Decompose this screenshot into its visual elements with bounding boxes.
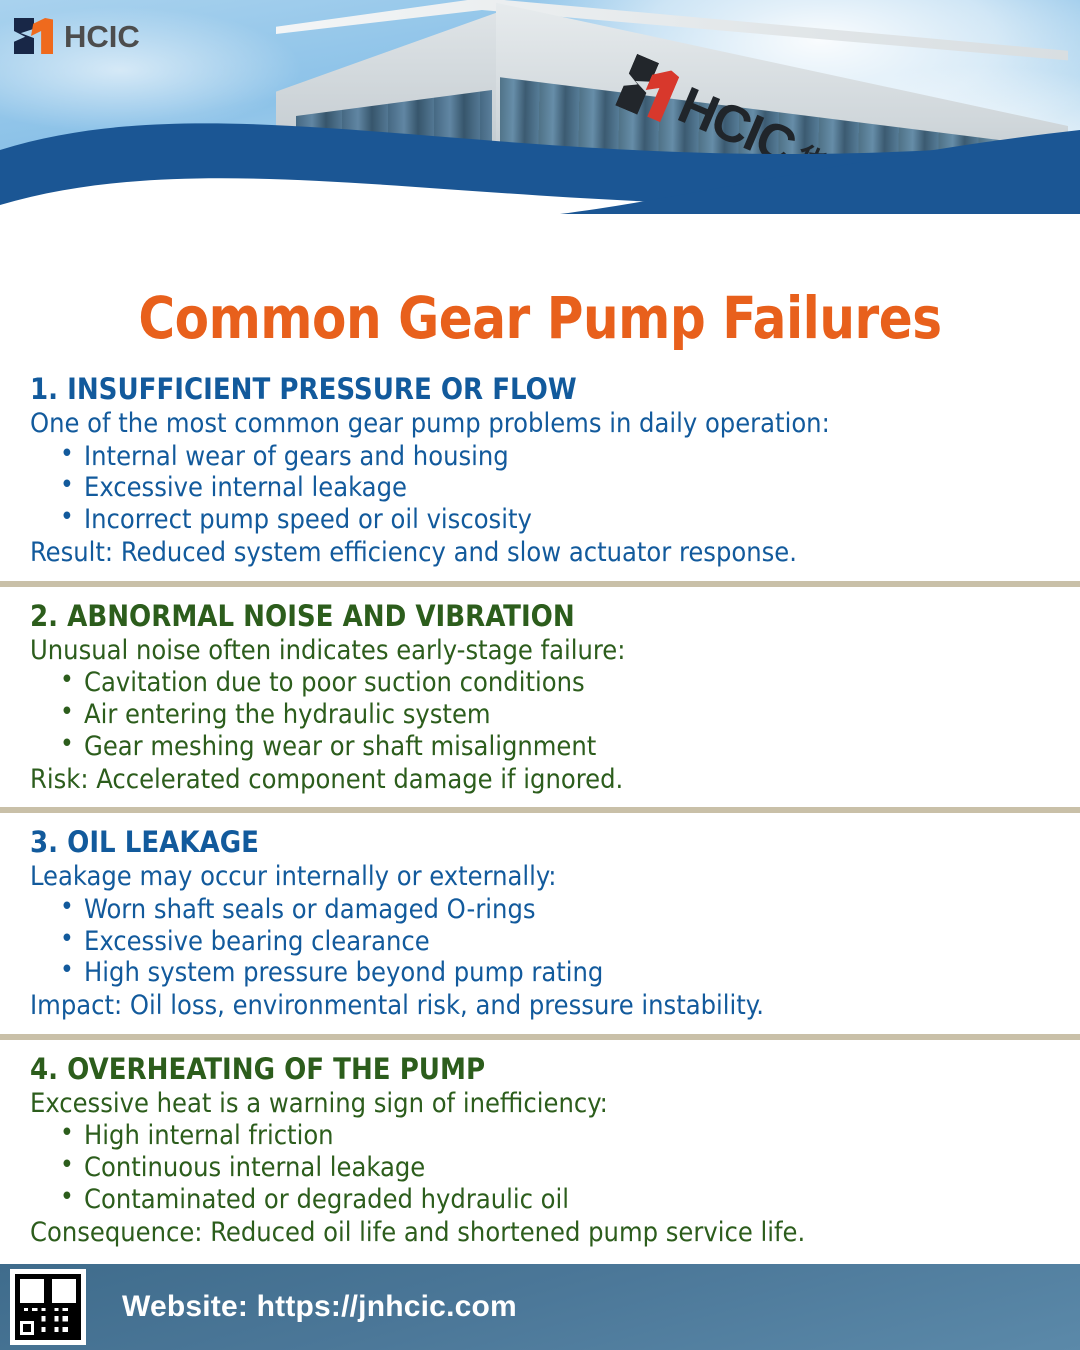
section-heading: 4. OVERHEATING OF THE PUMP xyxy=(30,1052,1050,1086)
list-item: Cavitation due to poor suction condition… xyxy=(58,667,1050,699)
section-bullet-list: Worn shaft seals or damaged O-rings Exce… xyxy=(30,894,1050,990)
section-overheating-of-the-pump: 4. OVERHEATING OF THE PUMP Excessive hea… xyxy=(0,1052,1080,1250)
building-sign-chinese-name: 华辰重工 xyxy=(790,132,921,221)
footer-bar: Website: https://jnhcic.com xyxy=(0,1264,1080,1350)
list-item: Worn shaft seals or damaged O-rings xyxy=(58,894,1050,926)
hcic-logo-mark-icon xyxy=(14,16,54,56)
section-divider xyxy=(0,1034,1080,1040)
section-footer-note: Impact: Oil loss, environmental risk, an… xyxy=(30,990,1050,1022)
section-lead: Unusual noise often indicates early-stag… xyxy=(30,635,1050,667)
section-bullet-list: Internal wear of gears and housing Exces… xyxy=(30,441,1050,537)
section-oil-leakage: 3. OIL LEAKAGE Leakage may occur interna… xyxy=(0,825,1080,1023)
sections-container: 1. INSUFFICIENT PRESSURE OR FLOW One of … xyxy=(0,372,1080,1249)
section-heading: 1. INSUFFICIENT PRESSURE OR FLOW xyxy=(30,372,1050,406)
qr-code-container[interactable] xyxy=(10,1269,86,1345)
section-bullet-list: High internal friction Continuous intern… xyxy=(30,1120,1050,1216)
qr-code-icon[interactable] xyxy=(15,1274,81,1340)
list-item: Incorrect pump speed or oil viscosity xyxy=(58,504,1050,536)
page-title: Common Gear Pump Failures xyxy=(22,284,1059,352)
factory-building-photo: HCIC 华辰重工 xyxy=(268,0,1068,260)
section-abnormal-noise-and-vibration: 2. ABNORMAL NOISE AND VIBRATION Unusual … xyxy=(0,599,1080,797)
list-item: Contaminated or degraded hydraulic oil xyxy=(58,1184,1050,1216)
section-heading: 3. OIL LEAKAGE xyxy=(30,825,1050,859)
list-item: High internal friction xyxy=(58,1120,1050,1152)
section-insufficient-pressure-or-flow: 1. INSUFFICIENT PRESSURE OR FLOW One of … xyxy=(0,372,1080,570)
list-item: Excessive bearing clearance xyxy=(58,926,1050,958)
section-lead: Excessive heat is a warning sign of inef… xyxy=(30,1088,1050,1120)
list-item: Excessive internal leakage xyxy=(58,472,1050,504)
brand-wordmark: HCIC xyxy=(64,21,140,52)
hero-banner: HCIC 华辰重工 xyxy=(0,0,1080,272)
section-bullet-list: Cavitation due to poor suction condition… xyxy=(30,667,1050,763)
list-item: Continuous internal leakage xyxy=(58,1152,1050,1184)
section-footer-note: Consequence: Reduced oil life and shorte… xyxy=(30,1217,1050,1249)
section-heading: 2. ABNORMAL NOISE AND VIBRATION xyxy=(30,599,1050,633)
building-sign-wordmark: HCIC xyxy=(671,79,801,173)
list-item: Air entering the hydraulic system xyxy=(58,699,1050,731)
section-divider xyxy=(0,581,1080,587)
section-divider xyxy=(0,807,1080,813)
section-lead: Leakage may occur internally or external… xyxy=(30,861,1050,893)
list-item: High system pressure beyond pump rating xyxy=(58,957,1050,989)
section-footer-note: Risk: Accelerated component damage if ig… xyxy=(30,764,1050,796)
section-footer-note: Result: Reduced system efficiency and sl… xyxy=(30,537,1050,569)
list-item: Gear meshing wear or shaft misalignment xyxy=(58,731,1050,763)
list-item: Internal wear of gears and housing xyxy=(58,441,1050,473)
section-lead: One of the most common gear pump problem… xyxy=(30,408,1050,440)
brand-logo[interactable]: HCIC xyxy=(14,14,140,58)
building-signage: HCIC 华辰重工 xyxy=(604,28,961,260)
website-label[interactable]: Website: https://jnhcic.com xyxy=(122,1290,517,1324)
